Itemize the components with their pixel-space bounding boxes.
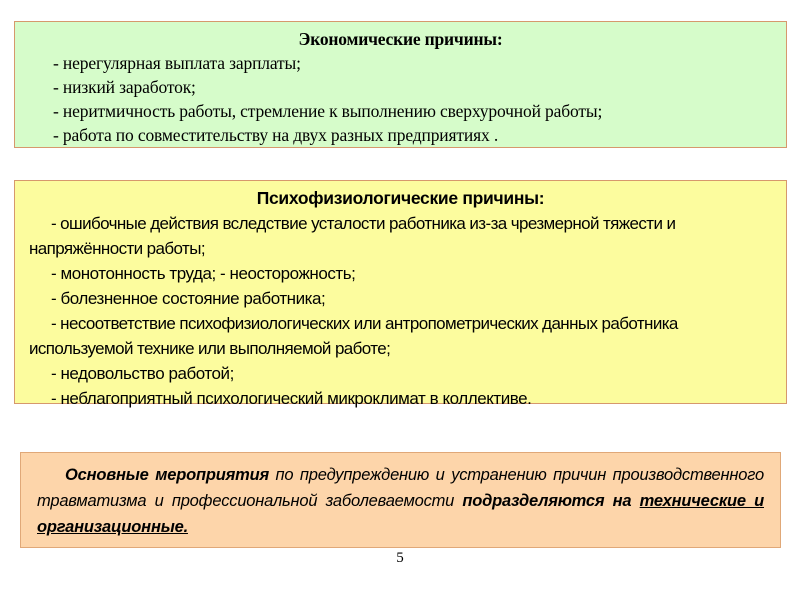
economic-cause-item: - неритмичность работы, стремление к вып…	[29, 99, 772, 123]
slide-canvas: Экономические причины: - нерегулярная вы…	[0, 0, 800, 600]
psychophysiological-cause-item: - несоответствие психофизиологических ил…	[29, 311, 772, 361]
main-measures-lead: Основные мероприятия	[65, 466, 269, 484]
economic-cause-item: - работа по совместительству на двух раз…	[29, 123, 772, 147]
psychophysiological-cause-item: - неблагоприятный психологический микрок…	[29, 386, 772, 411]
page-number: 5	[0, 550, 800, 567]
economic-cause-item: - нерегулярная выплата зарплаты;	[29, 51, 772, 75]
psychophysiological-cause-item: - ошибочные действия вследствие усталост…	[29, 211, 772, 261]
main-measures-box: Основные мероприятия по предупреждению и…	[20, 452, 781, 548]
psychophysiological-cause-item: - недовольство работой;	[29, 361, 772, 386]
economic-causes-box: Экономические причины: - нерегулярная вы…	[14, 21, 787, 148]
economic-cause-item: - низкий заработок;	[29, 75, 772, 99]
psychophysiological-cause-item: - болезненное состояние работника;	[29, 286, 772, 311]
economic-causes-heading: Экономические причины:	[29, 27, 772, 51]
psychophysiological-causes-box: Психофизиологические причины: - ошибочны…	[14, 180, 787, 404]
psychophysiological-causes-heading: Психофизиологические причины:	[29, 185, 772, 211]
main-measures-text: Основные мероприятия по предупреждению и…	[37, 462, 764, 540]
psychophysiological-cause-item: - монотонность труда; - неосторожность;	[29, 261, 772, 286]
main-measures-tail: подразделяются на	[462, 492, 639, 510]
